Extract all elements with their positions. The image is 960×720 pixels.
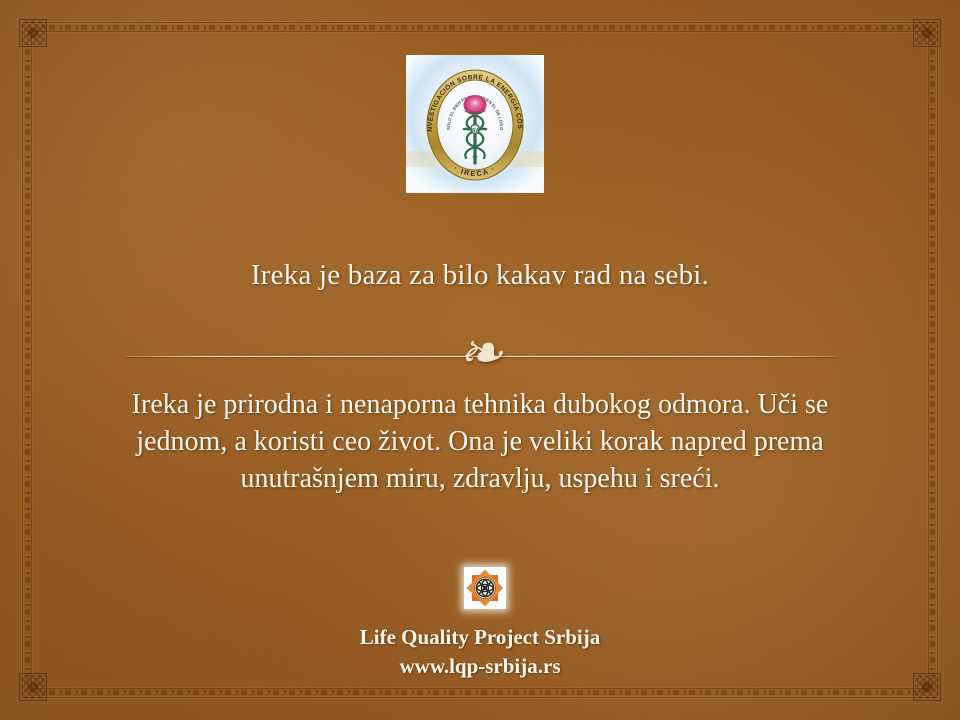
footer-organization: Life Quality Project Srbija [360,625,601,649]
corner-ornament-top-right [913,19,941,47]
presentation-slide: INSTITUTO DE INVESTIGACIÓN SOBRE LA ENER… [0,0,960,720]
star-medallion-ornament-icon [464,567,506,609]
footer-website[interactable]: www.lqp-srbija.rs [0,652,960,681]
slide-headline: Ireka je baza za bilo kakav rad na sebi. [0,258,960,293]
floral-heart-ornament-icon: ❧ [0,326,960,380]
frame-bead-chain-top [44,25,916,30]
corner-ornament-top-left [19,19,47,47]
ireca-logo: INSTITUTO DE INVESTIGACIÓN SOBRE LA ENER… [406,55,544,193]
slide-body-text: Ireka je prirodna i nenaporna tehnika du… [110,386,850,498]
svg-text:IRA: IRA [471,128,480,134]
footer-block: Life Quality Project Srbija www.lqp-srbi… [0,623,960,681]
frame-bead-chain-bottom [44,690,916,695]
